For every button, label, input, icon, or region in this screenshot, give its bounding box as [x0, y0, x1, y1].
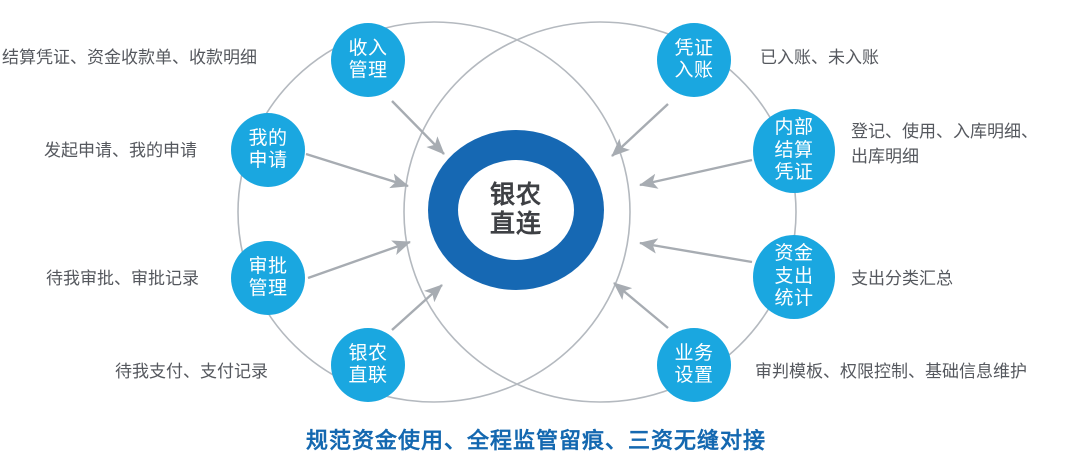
center-label-line2: 直连: [490, 210, 542, 239]
center-ring: 银农 直连: [428, 130, 604, 290]
label-my-application-desc: 发起申请、我的申请: [44, 139, 224, 164]
label-approval-management-desc: 待我审批、审批记录: [46, 267, 226, 292]
node-income-management[interactable]: 收入 管理: [331, 23, 405, 97]
node-my-application-line1: 我的: [248, 128, 287, 150]
node-internal-settlement-voucher-line2: 结算: [774, 140, 813, 162]
node-fund-expenditure-stat-line2: 支出: [774, 266, 813, 288]
node-voucher-entry-line1: 凭证: [674, 38, 713, 60]
node-my-application-line2: 申请: [248, 150, 287, 172]
arrow-internal-settlement: [640, 160, 752, 185]
node-internal-settlement-voucher-line3: 凭证: [774, 162, 813, 184]
node-bank-direct-link-line2: 直联: [348, 365, 387, 387]
label-fund-expenditure-stat-desc: 支出分类汇总: [851, 267, 1051, 292]
node-business-settings-line2: 设置: [674, 365, 713, 387]
arrow-approval-management: [308, 242, 410, 278]
arrow-business-settings: [614, 283, 668, 328]
arrow-my-application: [306, 154, 408, 186]
label-income-management-desc: 结算凭证、资金收款单、收款明细: [2, 46, 312, 71]
node-bank-direct-link-line1: 银农: [348, 343, 387, 365]
center-label-line1: 银农: [490, 181, 542, 210]
node-fund-expenditure-stat-line3: 统计: [774, 288, 813, 310]
node-voucher-entry[interactable]: 凭证 入账: [657, 23, 731, 97]
node-my-application[interactable]: 我的 申请: [231, 113, 305, 187]
node-fund-expenditure-stat[interactable]: 资金 支出 统计: [753, 235, 835, 319]
node-bank-direct-link[interactable]: 银农 直联: [331, 328, 405, 402]
node-income-management-line2: 管理: [348, 60, 387, 82]
node-approval-management-line2: 管理: [248, 278, 287, 300]
node-business-settings-line1: 业务: [674, 343, 713, 365]
arrow-bank-direct-link: [392, 285, 442, 330]
node-internal-settlement-voucher[interactable]: 内部 结算 凭证: [753, 109, 835, 193]
label-internal-settlement-voucher-desc: 登记、使用、入库明细、 出库明细: [851, 120, 1072, 169]
center-label: 银农 直连: [458, 160, 574, 260]
node-voucher-entry-line2: 入账: [674, 60, 713, 82]
node-business-settings[interactable]: 业务 设置: [657, 328, 731, 402]
arrow-fund-expenditure: [640, 243, 752, 262]
label-business-settings-desc: 审判模板、权限控制、基础信息维护: [755, 360, 1072, 385]
node-approval-management[interactable]: 审批 管理: [231, 241, 305, 315]
label-voucher-entry-desc: 已入账、未入账: [760, 46, 960, 71]
label-bank-direct-link-desc: 待我支付、支付记录: [115, 360, 305, 385]
diagram-caption: 规范资金使用、全程监管留痕、三资无缝对接: [0, 423, 1072, 455]
arrow-voucher-entry: [612, 104, 668, 156]
node-internal-settlement-voucher-line1: 内部: [774, 117, 813, 139]
node-approval-management-line1: 审批: [248, 256, 287, 278]
node-income-management-line1: 收入: [348, 38, 387, 60]
node-fund-expenditure-stat-line1: 资金: [774, 243, 813, 265]
diagram-canvas: 收入 管理 我的 申请 审批 管理 银农 直联 凭证 入账 内部 结算 凭证 资…: [0, 0, 1072, 471]
